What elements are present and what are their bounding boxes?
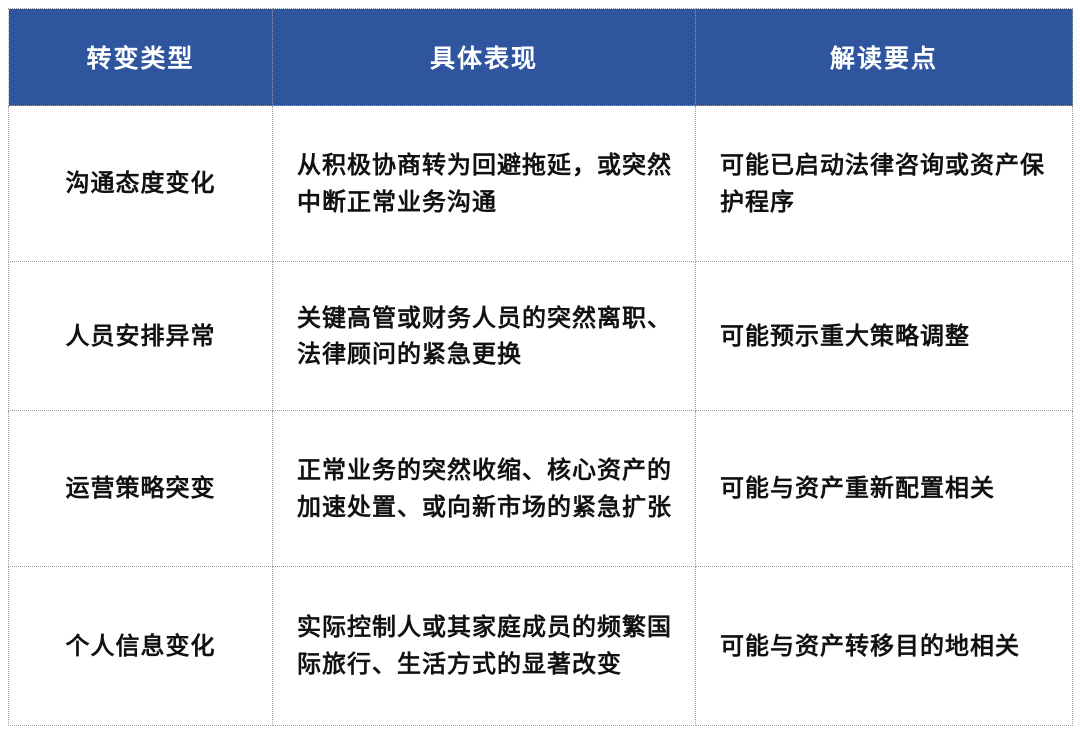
table-header-row: 转变类型 具体表现 解读要点 xyxy=(9,9,1073,106)
table-row: 人员安排异常 关键高管或财务人员的突然离职、法律顾问的紧急更换 可能预示重大策略… xyxy=(9,262,1073,411)
column-header-type: 转变类型 xyxy=(9,9,273,106)
table-row: 个人信息变化 实际控制人或其家庭成员的频繁国际旅行、生活方式的显著改变 可能与资… xyxy=(9,566,1073,725)
cell-type: 人员安排异常 xyxy=(9,262,273,411)
table-row: 运营策略突变 正常业务的突然收缩、核心资产的加速处置、或向新市场的紧急扩张 可能… xyxy=(9,411,1073,566)
cell-detail: 从积极协商转为回避拖延，或突然中断正常业务沟通 xyxy=(273,106,696,262)
cell-type: 个人信息变化 xyxy=(9,566,273,725)
cell-detail: 正常业务的突然收缩、核心资产的加速处置、或向新市场的紧急扩张 xyxy=(273,411,696,566)
cell-reading: 可能与资产重新配置相关 xyxy=(696,411,1073,566)
column-header-reading: 解读要点 xyxy=(696,9,1073,106)
cell-detail: 关键高管或财务人员的突然离职、法律顾问的紧急更换 xyxy=(273,262,696,411)
signal-table: 转变类型 具体表现 解读要点 沟通态度变化 从积极协商转为回避拖延，或突然中断正… xyxy=(8,8,1073,726)
table-head: 转变类型 具体表现 解读要点 xyxy=(9,9,1073,106)
cell-type: 运营策略突变 xyxy=(9,411,273,566)
cell-type: 沟通态度变化 xyxy=(9,106,273,262)
cell-reading: 可能已启动法律咨询或资产保护程序 xyxy=(696,106,1073,262)
cell-reading: 可能预示重大策略调整 xyxy=(696,262,1073,411)
table-container: 转变类型 具体表现 解读要点 沟通态度变化 从积极协商转为回避拖延，或突然中断正… xyxy=(8,8,1072,726)
page-canvas: 转变类型 具体表现 解读要点 沟通态度变化 从积极协商转为回避拖延，或突然中断正… xyxy=(0,0,1080,734)
cell-reading: 可能与资产转移目的地相关 xyxy=(696,566,1073,725)
cell-detail: 实际控制人或其家庭成员的频繁国际旅行、生活方式的显著改变 xyxy=(273,566,696,725)
table-body: 沟通态度变化 从积极协商转为回避拖延，或突然中断正常业务沟通 可能已启动法律咨询… xyxy=(9,106,1073,726)
column-header-detail: 具体表现 xyxy=(273,9,696,106)
table-row: 沟通态度变化 从积极协商转为回避拖延，或突然中断正常业务沟通 可能已启动法律咨询… xyxy=(9,106,1073,262)
